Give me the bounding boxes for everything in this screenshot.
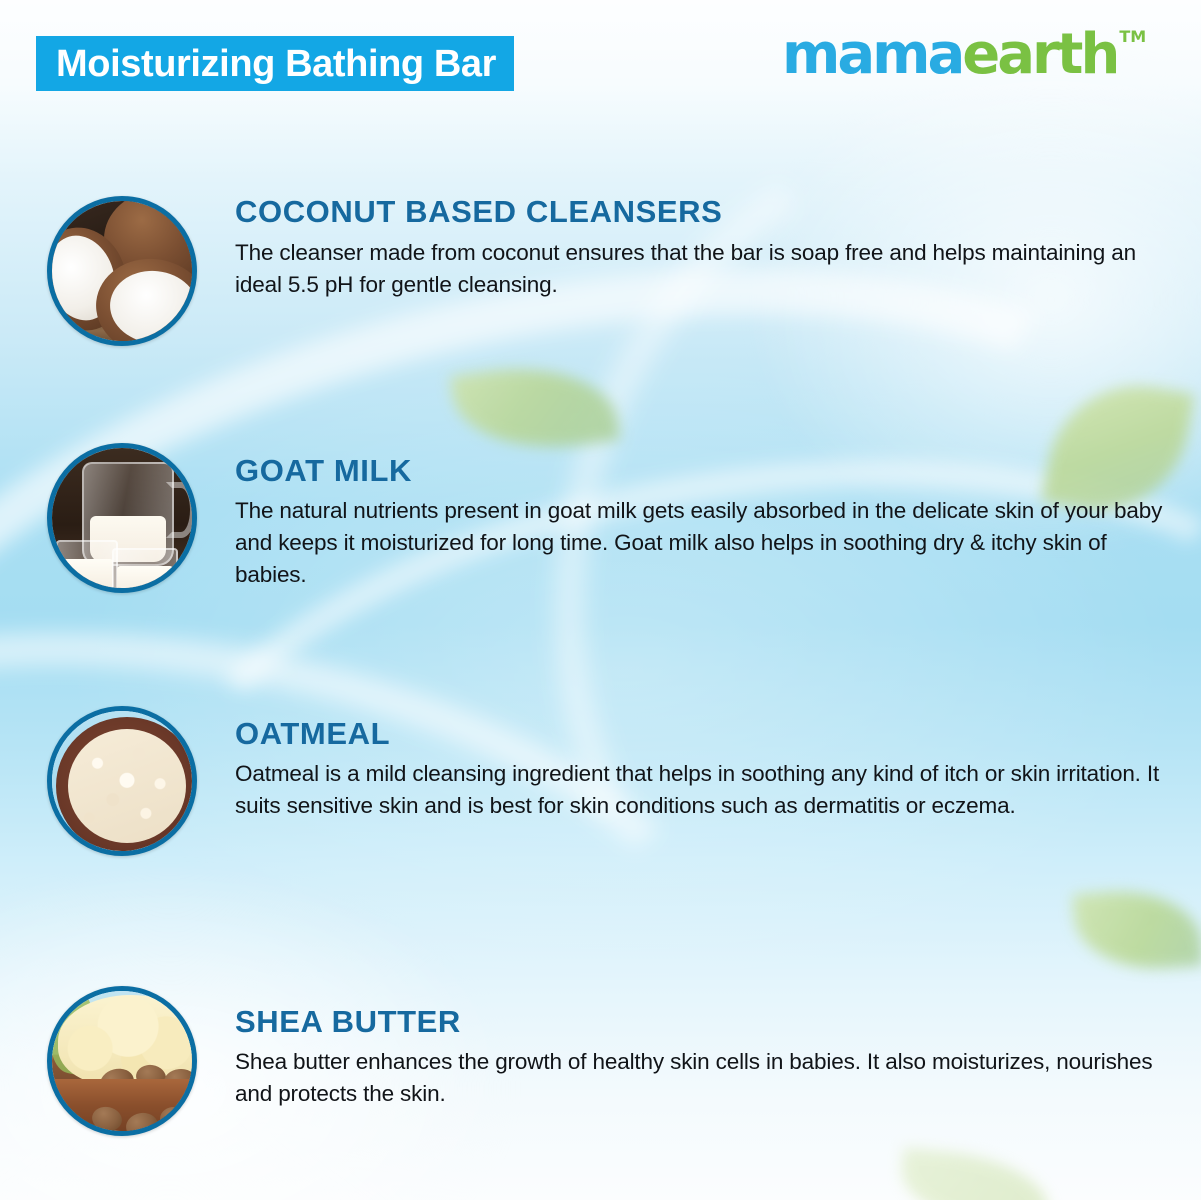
ingredient-description: Shea butter enhances the growth of healt… xyxy=(235,1046,1168,1110)
ingredient-content: SHEA BUTTER Shea butter enhances the gro… xyxy=(235,1006,1190,1110)
ingredient-content: COCONUT BASED CLEANSERS The cleanser mad… xyxy=(235,196,1190,301)
ingredient-description: Oatmeal is a mild cleansing ingredient t… xyxy=(235,758,1168,822)
leaf-icon xyxy=(1072,886,1201,975)
ingredient-row: OATMEAL Oatmeal is a mild cleansing ingr… xyxy=(0,706,1201,856)
leaf-icon xyxy=(897,1147,1053,1200)
shea-butter-image-circle xyxy=(47,986,197,1136)
ingredient-row: COCONUT BASED CLEANSERS The cleanser mad… xyxy=(0,196,1201,346)
logo-text-earth: earth xyxy=(962,27,1117,83)
ingredient-row: GOAT MILK The natural nutrients present … xyxy=(0,443,1201,593)
ingredient-content: GOAT MILK The natural nutrients present … xyxy=(235,455,1190,591)
page-header: Moisturizing Bathing Bar mamaearthTM xyxy=(0,0,1201,120)
ingredient-description: The cleanser made from coconut ensures t… xyxy=(235,237,1168,301)
ingredient-heading: OATMEAL xyxy=(235,718,1168,751)
mamaearth-logo: mamaearthTM xyxy=(782,27,1146,83)
goat-milk-image-circle xyxy=(47,443,197,593)
ingredient-content: OATMEAL Oatmeal is a mild cleansing ingr… xyxy=(235,718,1190,822)
milk-illustration xyxy=(52,448,192,588)
oatmeal-image-circle xyxy=(47,706,197,856)
ingredient-heading: SHEA BUTTER xyxy=(235,1006,1168,1039)
trademark-icon: TM xyxy=(1119,29,1146,45)
logo-text-mama: mama xyxy=(782,27,962,83)
page-title: Moisturizing Bathing Bar xyxy=(56,45,496,83)
title-banner: Moisturizing Bathing Bar xyxy=(36,36,514,91)
ingredient-heading: COCONUT BASED CLEANSERS xyxy=(235,196,1168,229)
infographic-page: Moisturizing Bathing Bar mamaearthTM COC… xyxy=(0,0,1201,1200)
ingredient-row: SHEA BUTTER Shea butter enhances the gro… xyxy=(0,986,1201,1136)
oatmeal-illustration xyxy=(52,711,192,851)
ingredient-heading: GOAT MILK xyxy=(235,455,1168,488)
coconut-illustration xyxy=(52,201,192,341)
coconut-image-circle xyxy=(47,196,197,346)
ingredient-description: The natural nutrients present in goat mi… xyxy=(235,495,1168,591)
shea-butter-illustration xyxy=(52,991,192,1131)
